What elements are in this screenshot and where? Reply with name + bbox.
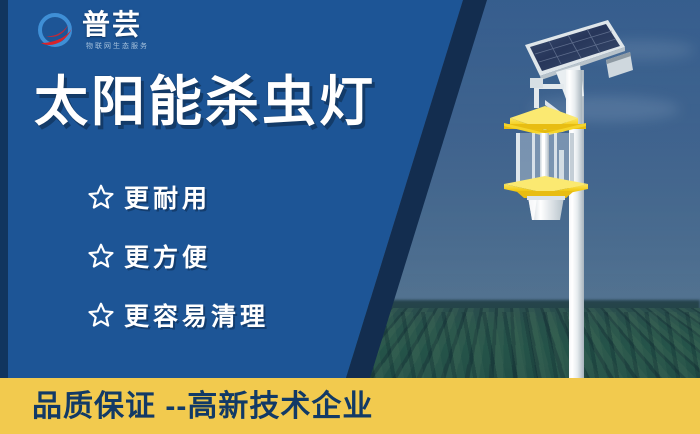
promo-banner: 普芸 物联网生态服务 太阳能杀虫灯 更耐用 更方便 更容易清理 品质保证 --高…: [0, 0, 700, 434]
logo-subtitle: 物联网生态服务: [86, 41, 149, 51]
footer-text: 品质保证 --高新技术企业: [32, 390, 373, 424]
star-outline-icon: [88, 184, 114, 210]
logo-swoosh-icon: [40, 23, 74, 47]
left-edge-stripe: [0, 0, 8, 378]
feature-label: 更耐用: [124, 179, 211, 215]
cloud: [530, 96, 680, 122]
page-title: 太阳能杀虫灯: [34, 70, 376, 134]
brand-logo[interactable]: 普芸 物联网生态服务: [36, 8, 196, 54]
logo-name: 普芸: [82, 10, 142, 40]
feature-label: 更容易清理: [124, 297, 269, 333]
list-item: 更耐用: [88, 172, 368, 222]
cloud: [585, 40, 695, 60]
star-outline-icon: [88, 243, 114, 269]
feature-list: 更耐用 更方便 更容易清理: [88, 172, 368, 349]
list-item: 更容易清理: [88, 290, 368, 340]
list-item: 更方便: [88, 231, 368, 281]
star-outline-icon: [88, 302, 114, 328]
circle-swoosh-logo-icon: [36, 11, 76, 51]
feature-label: 更方便: [124, 238, 211, 274]
